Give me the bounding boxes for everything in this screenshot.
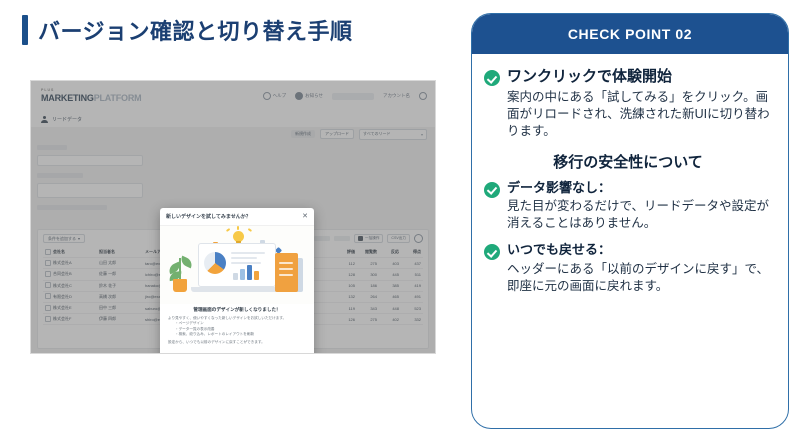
table-cell: 437 [401,258,423,269]
table-cell: 523 [401,302,423,313]
bar [254,271,259,280]
left-column: バージョン確認と切り替え手順 PLUS MARKETINGPLATFORM ヘル… [0,0,460,441]
table-filter-chip-label: 条件を追加する [48,236,76,242]
check-item-desc: ヘッダーにある「以前のデザインに戻す」で、即座に元の画面に戻れます。 [507,261,772,296]
table-cell: 448 [379,302,401,313]
ray [248,228,252,232]
table-cell: 高橋 次郎 [97,291,143,302]
checkbox-icon[interactable] [45,260,51,266]
pie-chart [204,252,226,274]
check-circle-icon [484,244,500,260]
table-cell: 田中 三郎 [97,302,143,313]
table-cell: 株式会社F [51,314,97,325]
check-item-heading: データ影響なし： [507,180,772,196]
app-subnav: リードデータ [31,111,435,127]
table-cell: 合同会社B [51,269,97,280]
book [275,253,298,292]
plant-pot [173,279,187,292]
pagination-line [314,236,330,241]
modal-title: 新しいデザインを試してみませんか？ [166,213,251,220]
csv-export-label: CSV出力 [391,236,406,241]
table-cell-checkbox[interactable] [43,291,51,302]
check-point-body: ワンクリックで体験開始 案内の中にある「試してみる」をクリック。画面がリロードさ… [472,54,788,428]
app-toolbar: 新規作成 アップロード すべてのリード ▾ [31,127,435,141]
header-notifications-label: お知らせ [305,93,323,99]
laptop-screen [198,243,276,287]
table-cell: 株式会社A [51,258,97,269]
table-cell: 403 [379,258,401,269]
bar [240,269,245,280]
filter-label-line [37,205,107,210]
ray [226,228,230,232]
modal-illustration [160,226,314,304]
table-cell: 105 [335,280,357,291]
table-cell: 119 [335,302,357,313]
table-cell: 鈴木 花子 [97,280,143,291]
header-notifications[interactable]: お知らせ [295,92,323,100]
table-cell: 有限会社D [51,291,97,302]
table-cell: 465 [379,291,401,302]
bulk-action-label: 一括操作 [365,236,379,241]
page-title-row: バージョン確認と切り替え手順 [22,14,353,46]
table-header-cell[interactable]: 反応 [379,247,401,258]
checkbox-icon[interactable] [45,271,51,277]
chevron-down-icon: ▾ [78,236,80,241]
close-icon[interactable]: ✕ [302,213,308,220]
checkbox-icon[interactable] [45,293,51,299]
table-header-checkbox[interactable] [43,247,51,258]
filter-label-line [37,145,67,150]
table-header-cell[interactable]: 得点 [401,247,423,258]
modal-header: 新しいデザインを試してみませんか？ ✕ [160,208,314,226]
table-header-cell[interactable]: 閲覧数 [357,247,379,258]
checkbox-icon[interactable] [45,316,51,322]
table-cell: 264 [357,291,379,302]
help-circle-icon [263,92,271,100]
filter-rail [37,145,149,214]
plant-leaf [179,256,194,269]
check-item: いつでも戻せる： ヘッダーにある「以前のデザインに戻す」で、即座に元の画面に戻れ… [484,242,772,295]
modal-body: 管理画面のデザインが新しくなりました！ より見やすく、使いやすくなった新しいデザ… [160,304,314,354]
table-filter-chip[interactable]: 条件を追加する ▾ [43,234,85,243]
table-cell: 186 [357,280,379,291]
bell-icon [295,92,303,100]
table-cell: 343 [357,302,379,313]
table-cell: 132 [335,291,357,302]
filter-input[interactable] [37,155,143,166]
table-cell: 385 [379,280,401,291]
table-cell: 445 [379,269,401,280]
settings-icon[interactable] [414,234,423,243]
checkbox-icon[interactable] [45,249,51,255]
check-item-heading: いつでも戻せる： [507,242,772,258]
check-circle-icon [484,70,500,86]
filter-input[interactable] [37,183,143,198]
table-cell: 128 [335,269,357,280]
header-help[interactable]: ヘルプ [263,92,287,100]
table-cell: 伊藤 四郎 [97,314,143,325]
app-logo: PLUS MARKETINGPLATFORM [41,89,141,103]
bar [233,273,238,280]
check-item-desc: 見た目が変わるだけで、リードデータや設定が消えることはありません。 [507,198,772,233]
bulk-icon [358,236,363,241]
modal-body-heading: 管理画面のデザインが新しくなりました！ [168,307,306,313]
check-item: データ影響なし： 見た目が変わるだけで、リードデータや設定が消えることはありませ… [484,180,772,233]
ray [237,226,239,230]
csv-export-button[interactable]: CSV出力 [387,234,410,243]
table-cell: 275 [357,314,379,325]
check-point-header-text: CHECK POINT 02 [568,26,692,42]
app-screenshot: PLUS MARKETINGPLATFORM ヘルプ お知らせ アカウント名 [30,80,436,354]
table-cell-checkbox[interactable] [43,258,51,269]
toolbar-select[interactable]: すべてのリード ▾ [359,129,427,140]
header-account-label: アカウント名 [383,93,410,99]
table-cell: 112 [335,258,357,269]
account-icon[interactable] [419,92,427,100]
table-header-cell[interactable]: 会社名 [51,247,97,258]
title-accent-bar [22,15,28,45]
table-topbar-right: 一括操作 CSV出力 [314,234,423,243]
toolbar-select-value: すべてのリード [363,131,391,137]
bulk-action-button[interactable]: 一括操作 [354,234,383,243]
checkbox-icon[interactable] [45,282,51,288]
modal-body-line: 設定から、いつでも以前のデザインに戻すことができます。 [168,340,306,345]
table-cell: 佐藤 一郎 [97,269,143,280]
check-item-text: ワンクリックで体験開始 案内の中にある「試してみる」をクリック。画面がリロードさ… [507,68,772,141]
check-item-heading: ワンクリックで体験開始 [507,68,772,87]
header-help-label: ヘルプ [273,93,287,99]
table-cell: 株式会社E [51,302,97,313]
section-subtitle: 移行の安全性について [484,151,772,172]
check-item-desc: 案内の中にある「試してみる」をクリック。画面がリロードされ、洗練された新UIに切… [507,89,772,141]
table-cell-checkbox[interactable] [43,302,51,313]
toolbar-button-upload[interactable]: アップロード [320,129,354,139]
person-icon [41,116,48,123]
table-cell-checkbox[interactable] [43,314,51,325]
table-cell: 419 [401,280,423,291]
chevron-down-icon: ▾ [421,132,423,137]
table-cell: 山田 太郎 [97,258,143,269]
new-design-modal: 新しいデザインを試してみませんか？ ✕ [160,208,314,354]
header-account[interactable]: アカウント名 [383,93,410,99]
table-cell: 275 [357,258,379,269]
table-header-cell[interactable]: 評価 [335,247,357,258]
check-point-header: CHECK POINT 02 [472,14,788,54]
check-item: ワンクリックで体験開始 案内の中にある「試してみる」をクリック。画面がリロードさ… [484,68,772,141]
toolbar-button-create[interactable]: 新規作成 [291,130,315,138]
table-cell: 126 [335,314,357,325]
table-cell-checkbox[interactable] [43,280,51,291]
app-header-right: ヘルプ お知らせ アカウント名 [263,92,427,100]
check-circle-icon [484,182,500,198]
checkbox-icon[interactable] [45,305,51,311]
header-search-box[interactable] [332,93,374,100]
laptop-base [191,287,283,292]
page-title: バージョン確認と切り替え手順 [38,14,353,46]
table-cell: 511 [401,269,423,280]
table-cell: 株式会社C [51,280,97,291]
table-cell: 402 [379,314,401,325]
app-logo-bold: MARKETING [41,93,94,103]
app-logo-light: PLATFORM [94,93,142,103]
bar [247,265,252,280]
table-header-cell[interactable]: 担当者名 [97,247,143,258]
table-cell: 491 [401,291,423,302]
subnav-label: リードデータ [52,116,82,123]
table-cell: 300 [357,269,379,280]
app-header: PLUS MARKETINGPLATFORM ヘルプ お知らせ アカウント名 [31,81,435,112]
modal-body-line: ・検索、絞り込み、レポートのレイアウトを刷新 [168,332,306,337]
filter-label-line [37,173,83,178]
pagination-line [334,236,350,241]
check-point-card: CHECK POINT 02 ワンクリックで体験開始 案内の中にある「試してみる… [471,13,789,429]
check-item-text: いつでも戻せる： ヘッダーにある「以前のデザインに戻す」で、即座に元の画面に戻れ… [507,242,772,295]
app-logo-text: MARKETINGPLATFORM [41,94,141,103]
table-cell-checkbox[interactable] [43,269,51,280]
check-item-text: データ影響なし： 見た目が変わるだけで、リードデータや設定が消えることはありませ… [507,180,772,233]
table-cell: 332 [401,314,423,325]
